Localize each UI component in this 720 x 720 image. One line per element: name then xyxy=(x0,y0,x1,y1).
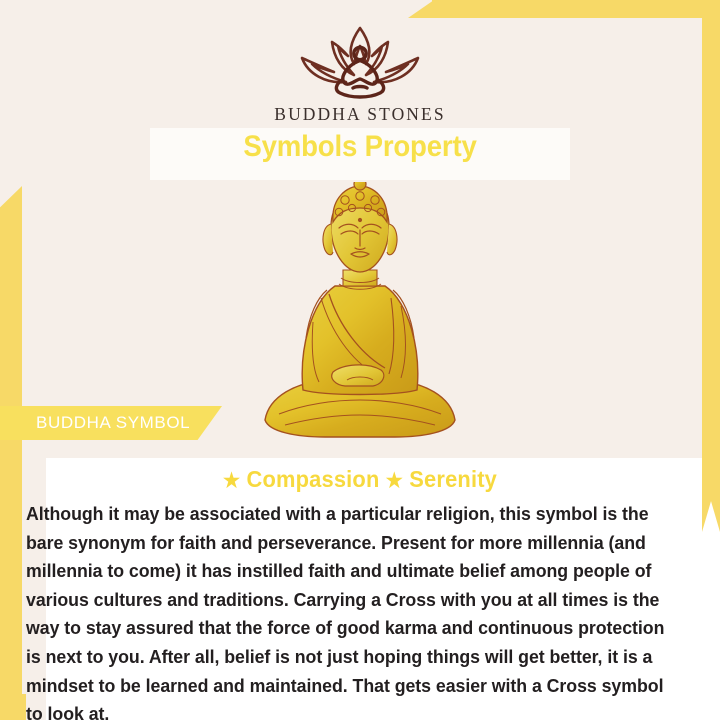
frame-bottom-left-tip xyxy=(0,694,26,720)
tagline: ★ Compassion ★ Serenity xyxy=(18,466,702,493)
frame-top-right-bar xyxy=(432,0,720,18)
body-paragraph: Although it may be associated with a par… xyxy=(26,500,669,720)
tagline-word-two: Serenity xyxy=(409,466,497,492)
star-icon-right: ★ xyxy=(386,470,403,492)
section-ribbon: BUDDHA SYMBOL xyxy=(0,406,222,440)
brand-logo: BUDDHA STONES xyxy=(0,22,720,125)
poster-canvas: BUDDHA STONES Symbols Property xyxy=(0,0,720,720)
brand-name: BUDDHA STONES xyxy=(0,104,720,125)
lotus-meditation-icon xyxy=(284,22,436,100)
section-ribbon-label: BUDDHA SYMBOL xyxy=(36,413,190,433)
star-icon-left: ★ xyxy=(223,470,240,492)
golden-seated-buddha-statue-icon xyxy=(255,182,465,447)
page-title: Symbols Property xyxy=(29,130,691,164)
frame-corner-notch-icon xyxy=(408,0,434,18)
frame-left-bar xyxy=(0,186,22,720)
tagline-word-one: Compassion xyxy=(246,466,379,492)
